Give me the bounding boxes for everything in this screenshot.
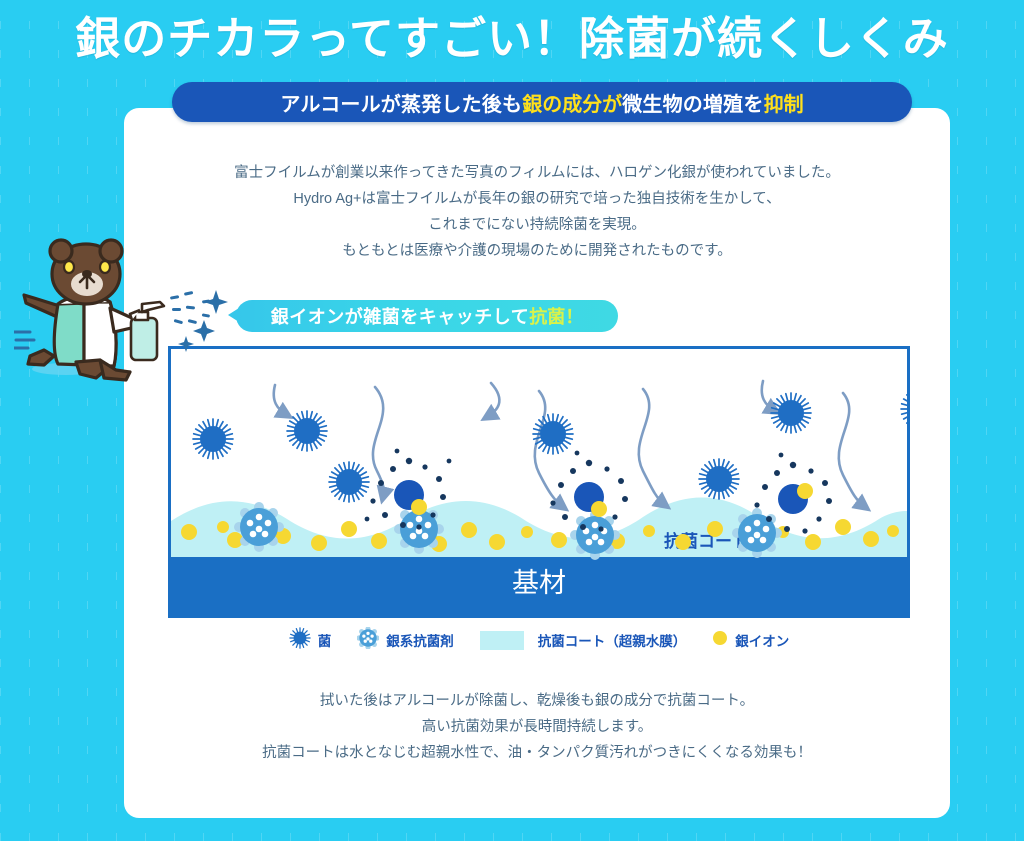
legend-item-bacteria: 菌 [289, 627, 332, 654]
footer-line-2: 高い抗菌効果が長時間持続します。 [124, 714, 950, 740]
subtitle-part-1: アルコールが蒸発した後も [280, 88, 522, 117]
intro-line-2: Hydro Ag+は富士フイルムが長年の銀の研究で培った独自技術を生かして、 [124, 186, 950, 212]
legend-label-bacteria: 菌 [318, 630, 332, 650]
diagram-legend: 菌 銀系抗菌剤 抗菌コート（超親水膜） 銀 [168, 626, 910, 654]
section-pill-highlight: 抗菌！ [529, 303, 583, 329]
subtitle-banner: アルコールが蒸発した後も 銀の成分が 微生物の増殖を 抑制 [172, 82, 912, 122]
intro-line-4: もともとは医療や介護の現場のために開発されたものです。 [124, 238, 950, 264]
intro-paragraph: 富士フイルムが創業以来作ってきた写真のフィルムには、ハロゲン化銀が使われていまし… [124, 160, 950, 264]
coat-swatch-icon [480, 631, 524, 650]
legend-label-coat: 抗菌コート（超親水膜） [538, 630, 687, 650]
bear-mascot-with-spray-icon [14, 232, 244, 392]
footer-line-3: 抗菌コートは水となじむ超親水性で、油・タンパク質汚れがつきにくくなる効果も！ [124, 740, 950, 766]
bacteria-icon [289, 627, 311, 654]
silver-ion-icon [712, 630, 728, 651]
legend-item-coat: 抗菌コート（超親水膜） [480, 630, 687, 650]
legend-label-silver-agent: 銀系抗菌剤 [386, 630, 454, 650]
subtitle-part-4-highlight: 抑制 [764, 88, 804, 117]
intro-line-3: これまでにない持続除菌を実現。 [124, 212, 950, 238]
footer-line-1: 拭いた後はアルコールが除菌し、乾燥後も銀の成分で抗菌コート。 [124, 688, 950, 714]
subtitle-part-3: 微生物の増殖を [622, 88, 763, 117]
antibacterial-mechanism-diagram: 基材 抗菌コート [168, 346, 910, 618]
legend-label-silver-ion: 銀イオン [735, 630, 789, 650]
legend-item-silver-ion: 銀イオン [712, 630, 789, 651]
footer-paragraph: 拭いた後はアルコールが除菌し、乾燥後も銀の成分で抗菌コート。 高い抗菌効果が長時… [124, 688, 950, 766]
section-pill-text: 銀イオンが雑菌をキャッチして [271, 303, 529, 329]
intro-line-1: 富士フイルムが創業以来作ってきた写真のフィルムには、ハロゲン化銀が使われていまし… [124, 160, 950, 186]
section-pill: 銀イオンが雑菌をキャッチして 抗菌！ [236, 300, 618, 332]
silver-agent-icon [357, 627, 379, 654]
substrate-label: 基材 [512, 568, 566, 598]
legend-item-silver-agent: 銀系抗菌剤 [357, 627, 454, 654]
page-title: 銀のチカラってすごい！除菌が続くしくみ [0, 8, 1024, 70]
subtitle-part-2-highlight: 銀の成分が [522, 88, 622, 117]
